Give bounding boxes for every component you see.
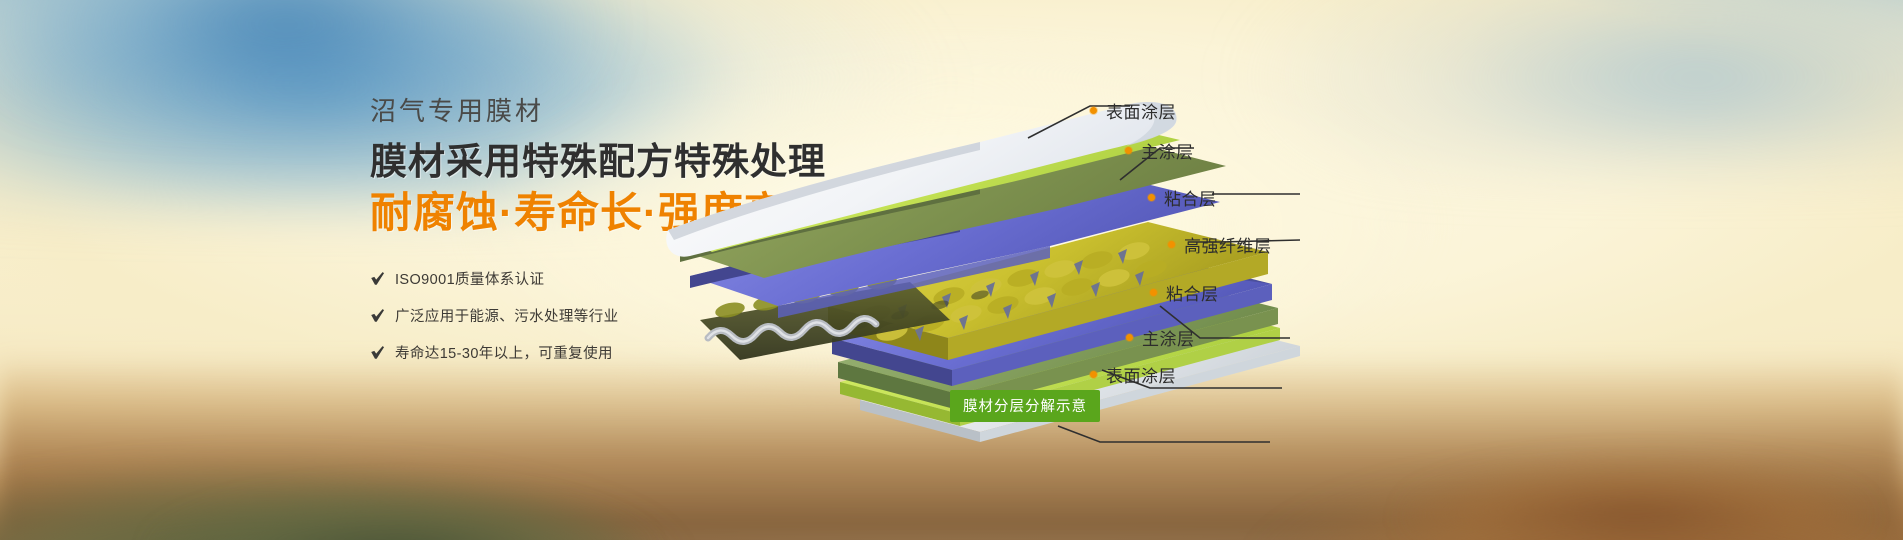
check-tick-icon [370, 308, 385, 323]
list-item-label: 寿命达15-30年以上，可重复使用 [395, 342, 613, 363]
list-item-label: 广泛应用于能源、污水处理等行业 [395, 305, 619, 326]
membrane-layer-exploded-view [660, 70, 1360, 490]
diagram-caption-badge: 膜材分层分解示意 [950, 390, 1100, 422]
banner-root: 沼气专用膜材 膜材采用特殊配方特殊处理 耐腐蚀·寿命长·强度高 ISO9001质… [0, 0, 1903, 540]
list-item-label: ISO9001质量体系认证 [395, 268, 544, 289]
check-tick-icon [370, 271, 385, 286]
check-tick-icon [370, 345, 385, 360]
